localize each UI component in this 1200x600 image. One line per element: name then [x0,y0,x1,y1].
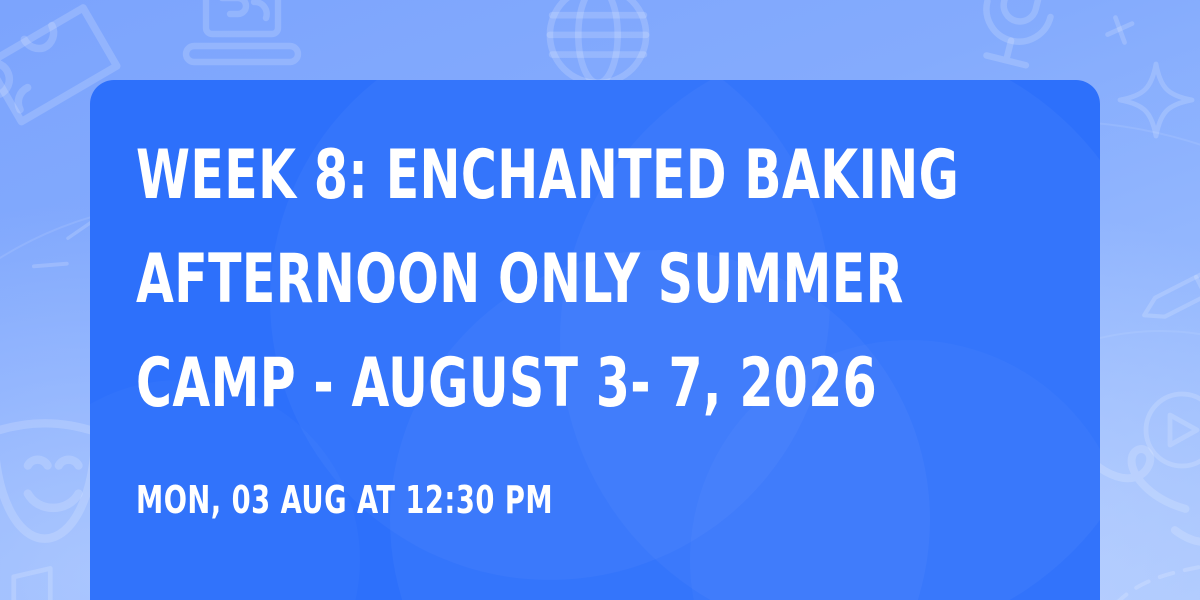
event-datetime: Mon, 03 Aug at 12:30 PM [136,478,1054,522]
event-card: Week 8: Enchanted Baking Afternoon Only … [90,80,1100,600]
dash-icon [30,258,72,272]
event-title: Week 8: Enchanted Baking Afternoon Only … [136,124,1054,436]
laptop-icon [178,0,306,86]
sparkle-icon [1108,52,1200,148]
circle-icon [1134,382,1200,478]
dashed-line-icon [1112,556,1200,600]
event-card-content: Week 8: Enchanted Baking Afternoon Only … [90,80,1100,522]
music-note-icon [0,560,70,600]
event-banner-stage: Week 8: Enchanted Baking Afternoon Only … [0,0,1200,600]
